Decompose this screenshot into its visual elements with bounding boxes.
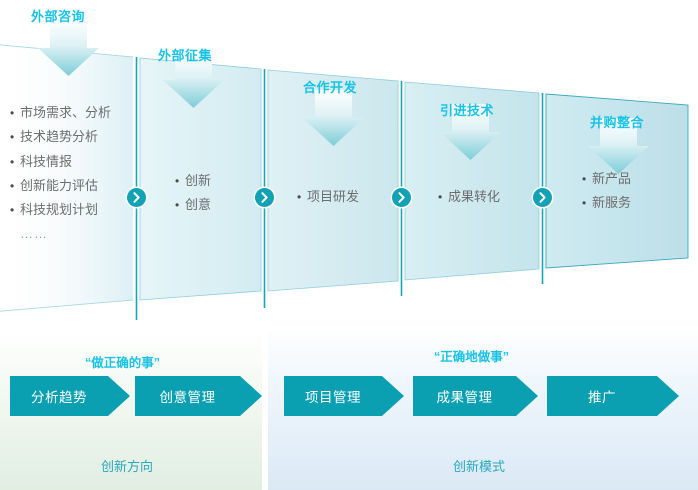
stage-label-5: 并购整合 — [590, 112, 644, 131]
process-step-label: 分析趋势 — [10, 374, 108, 418]
stage-items-4: • 成果转化 — [438, 190, 500, 214]
list-item: • 科技规划计划 — [10, 203, 111, 217]
stage-label-3: 合作开发 — [303, 77, 357, 96]
stage-label-1: 外部咨询 — [31, 6, 85, 25]
panel-quote-left: “做正确的事” — [85, 352, 160, 371]
list-item: • 成果转化 — [438, 190, 500, 204]
stage-label-4: 引进技术 — [440, 100, 494, 119]
panel-innovation-mode: “正确地做事” 创新模式 项目管理 成果管理 推广 — [268, 332, 698, 490]
bullet-icon: • — [438, 191, 448, 203]
stage-items-1: • 市场需求、分析 • 技术趋势分析 • 科技情报 • 创新能力评估 • 科技规… — [10, 106, 111, 252]
process-step-result-management[interactable]: 成果管理 — [413, 374, 538, 418]
chevron-right-icon — [255, 188, 274, 207]
bullet-icon: • — [582, 197, 592, 209]
stage-connector-1[interactable] — [127, 188, 146, 207]
process-step-project-management[interactable]: 项目管理 — [284, 374, 404, 418]
stage-items-2: • 创新 • 创意 — [175, 174, 211, 223]
list-item: • 科技情报 — [10, 155, 111, 169]
process-step-promotion[interactable]: 推广 — [547, 374, 679, 418]
list-item-ellipsis: …… — [10, 227, 111, 241]
stage-connector-2[interactable] — [255, 188, 274, 207]
process-step-analyze-trend[interactable]: 分析趋势 — [10, 374, 130, 418]
list-item: • 项目研发 — [297, 190, 359, 204]
list-item: • 市场需求、分析 — [10, 106, 111, 120]
stage-connector-4[interactable] — [533, 188, 552, 207]
bullet-icon: • — [10, 204, 20, 216]
list-item: • 新产品 — [582, 172, 631, 186]
stage-items-5: • 新产品 • 新服务 — [582, 172, 631, 221]
process-step-label: 创意管理 — [135, 374, 240, 418]
list-item: • 新服务 — [582, 196, 631, 210]
chevron-right-icon — [392, 188, 411, 207]
process-step-label: 推广 — [547, 374, 657, 418]
panel-innovation-direction: “做正确的事” 创新方向 分析趋势 创意管理 — [0, 332, 262, 490]
bullet-icon: • — [10, 107, 20, 119]
list-item: • 创意 — [175, 198, 211, 212]
panel-quote-right: “正确地做事” — [434, 346, 509, 365]
chevron-right-icon — [533, 188, 552, 207]
bullet-icon: • — [175, 175, 185, 187]
process-step-label: 成果管理 — [413, 374, 516, 418]
chevron-right-icon — [127, 188, 146, 207]
stage-items-3: • 项目研发 — [297, 190, 359, 214]
stage-connector-3[interactable] — [392, 188, 411, 207]
diagram-canvas: 外部咨询 外部征集 合作开发 引进技术 并购整合 • 市场需求、分析 • 技术趋… — [0, 0, 698, 490]
bullet-icon: • — [297, 191, 307, 203]
bullet-icon: • — [175, 199, 185, 211]
list-item: • 创新能力评估 — [10, 179, 111, 193]
list-item: • 创新 — [175, 174, 211, 188]
process-step-label: 项目管理 — [284, 374, 382, 418]
panel-caption-left: 创新方向 — [101, 456, 153, 475]
stage-label-2: 外部征集 — [158, 45, 212, 64]
process-step-idea-management[interactable]: 创意管理 — [135, 374, 262, 418]
bullet-icon: • — [10, 180, 20, 192]
bullet-icon: • — [10, 156, 20, 168]
list-item: • 技术趋势分析 — [10, 130, 111, 144]
bullet-icon: • — [582, 173, 592, 185]
bullet-icon: • — [10, 131, 20, 143]
panel-caption-right: 创新模式 — [453, 456, 505, 475]
